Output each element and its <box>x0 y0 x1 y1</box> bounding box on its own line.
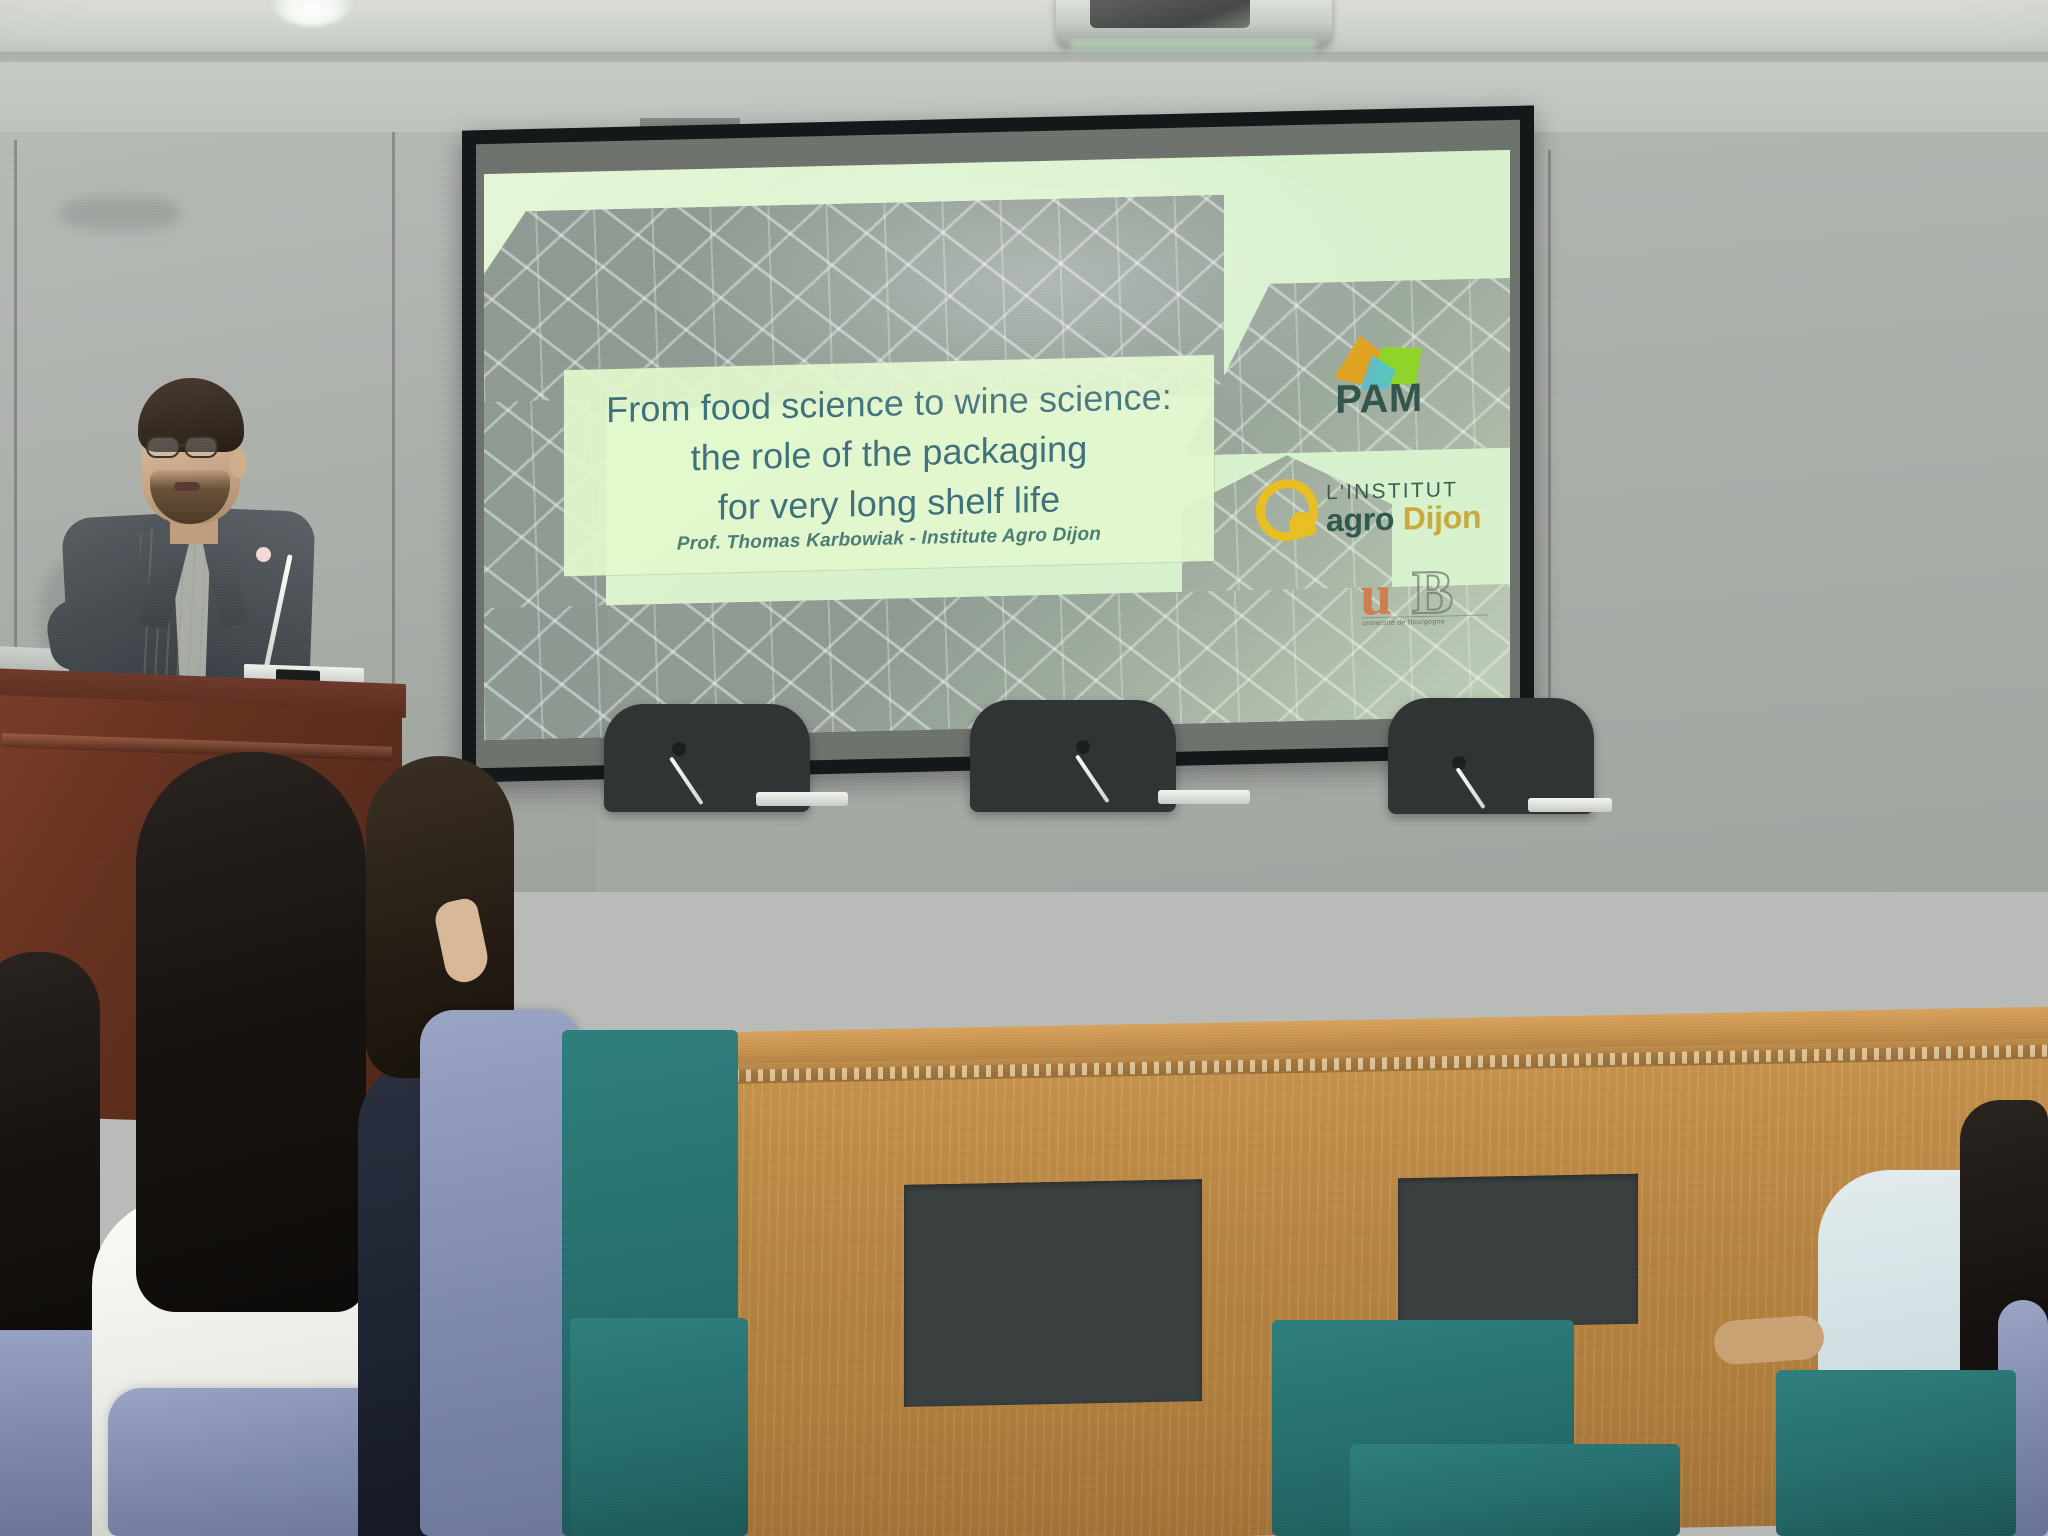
projector-housing-detail <box>1090 0 1250 28</box>
audience-seat-4-teal <box>1776 1370 2016 1536</box>
pam-logo: PAM <box>1304 329 1454 445</box>
dais-inset-panel-2 <box>904 1179 1202 1407</box>
lecture-hall-photo: From food science to wine science: the r… <box>0 0 2048 1536</box>
presenter-ear <box>230 450 247 478</box>
slide-title: From food science to wine science: the r… <box>564 371 1214 536</box>
wall-seam-mid <box>392 132 395 772</box>
dais-microphone-head-1 <box>672 742 686 756</box>
audience-seat-2 <box>420 1010 582 1536</box>
presenter-mouth <box>174 482 200 491</box>
projection-screen: From food science to wine science: the r… <box>462 105 1534 782</box>
agro-ring-icon <box>1256 478 1318 541</box>
podium-microphone-head <box>256 547 271 562</box>
audience-member-4-object <box>1713 1314 1826 1366</box>
ub-letter-b: B <box>1412 563 1453 623</box>
wall-mark-a <box>60 196 180 230</box>
dais-microphone-base-3 <box>1528 798 1612 812</box>
agro-line-2: agro Dijon <box>1326 501 1481 537</box>
presentation-slide: From food science to wine science: the r… <box>484 150 1510 740</box>
agro-word-accent: Dijon <box>1403 499 1482 537</box>
dais-chair-2 <box>970 700 1176 812</box>
dais-microphone-base-2 <box>1158 790 1250 804</box>
projector-light-glow <box>1070 40 1316 58</box>
glasses-lens-right-icon <box>184 436 218 458</box>
wall-seam-right <box>1548 150 1551 790</box>
audience-seat-teal-front-3 <box>1350 1444 1680 1536</box>
pam-wordmark: PAM <box>1304 375 1454 424</box>
dais-chair-3 <box>1388 698 1594 814</box>
dais-microphone-base-1 <box>756 792 848 806</box>
agro-word-main: agro <box>1326 501 1394 539</box>
screen-surface: From food science to wine science: the r… <box>476 120 1520 769</box>
audience-member-1-hair <box>136 752 366 1312</box>
ub-subtitle: université de Bourgogne <box>1362 614 1488 627</box>
audience-seat-teal-front-1 <box>570 1318 748 1536</box>
glasses-bridge-icon <box>180 444 186 447</box>
glasses-lens-left-icon <box>146 436 180 458</box>
ub-letter-u: u <box>1360 567 1392 623</box>
ub-logo: u B université de Bourgogne <box>1360 564 1490 631</box>
dais-inset-panel-3 <box>1398 1174 1638 1329</box>
institut-agro-logo: L'INSTITUT agro Dijon <box>1256 468 1494 548</box>
presenter <box>30 378 330 708</box>
slide-title-card: From food science to wine science: the r… <box>564 355 1214 576</box>
audience-member-3-hair <box>0 952 100 1372</box>
agro-text-block: L'INSTITUT agro Dijon <box>1326 479 1481 537</box>
dais-microphone-head-2 <box>1076 740 1090 754</box>
